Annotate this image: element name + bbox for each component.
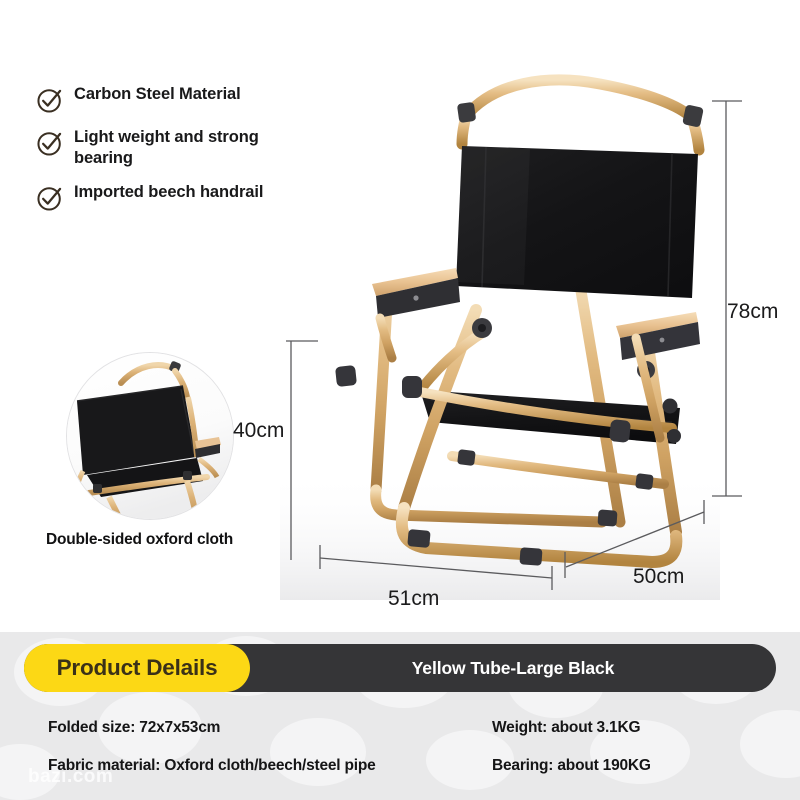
spec-bearing: Bearing: about 190KG bbox=[492, 757, 651, 775]
clamp-mid-right bbox=[635, 473, 654, 490]
feature-item: Carbon Steel Material bbox=[36, 84, 286, 114]
variant-label-container: Yellow Tube-Large Black bbox=[250, 644, 776, 692]
foot-cap-left bbox=[407, 529, 430, 548]
feature-list: Carbon Steel Material Light weight and s… bbox=[36, 84, 286, 225]
foot-cap-rear bbox=[597, 509, 617, 526]
feature-label: Imported beech handrail bbox=[74, 182, 263, 203]
dimension-label-total-height: 78cm bbox=[727, 300, 778, 324]
feature-label: Carbon Steel Material bbox=[74, 84, 241, 105]
seat-cap-right bbox=[609, 419, 631, 443]
product-details-badge-label: Product Delails bbox=[57, 655, 218, 681]
feature-item: Imported beech handrail bbox=[36, 182, 286, 212]
spec-folded-size: Folded size: 72x7x53cm bbox=[48, 719, 220, 737]
foot-cap-a bbox=[335, 365, 357, 387]
seat-cap-left bbox=[402, 376, 422, 398]
foot-cap-mid bbox=[519, 547, 542, 565]
product-infographic: Carbon Steel Material Light weight and s… bbox=[0, 0, 800, 800]
top-back-rail bbox=[466, 80, 692, 118]
dimension-label-width: 51cm bbox=[388, 587, 439, 611]
variant-label: Yellow Tube-Large Black bbox=[412, 658, 615, 679]
check-circle-icon bbox=[36, 184, 64, 212]
detail-inset bbox=[66, 352, 234, 520]
dimension-label-depth: 50cm bbox=[633, 565, 684, 589]
feature-item: Light weight and strong bearing bbox=[36, 127, 286, 169]
armrest-right bbox=[616, 312, 700, 360]
feature-label: Light weight and strong bearing bbox=[74, 127, 286, 169]
chair-product-image bbox=[280, 70, 720, 600]
detail-inset-circle bbox=[66, 352, 234, 520]
check-circle-icon bbox=[36, 86, 64, 114]
check-circle-icon bbox=[36, 129, 64, 157]
rail-cap-left bbox=[457, 102, 476, 123]
chair-rear-view-illustration bbox=[67, 353, 234, 520]
product-details-badge: Product Delails bbox=[24, 644, 250, 692]
spec-fabric-material: Fabric material: Oxford cloth/beech/stee… bbox=[48, 757, 376, 775]
detail-inset-caption: Double-sided oxford cloth bbox=[46, 531, 276, 549]
armrest-left bbox=[372, 268, 460, 358]
spec-weight: Weight: about 3.1KG bbox=[492, 719, 640, 737]
clamp-mid-left bbox=[457, 449, 476, 466]
dimension-label-seat-height: 40cm bbox=[233, 419, 284, 443]
